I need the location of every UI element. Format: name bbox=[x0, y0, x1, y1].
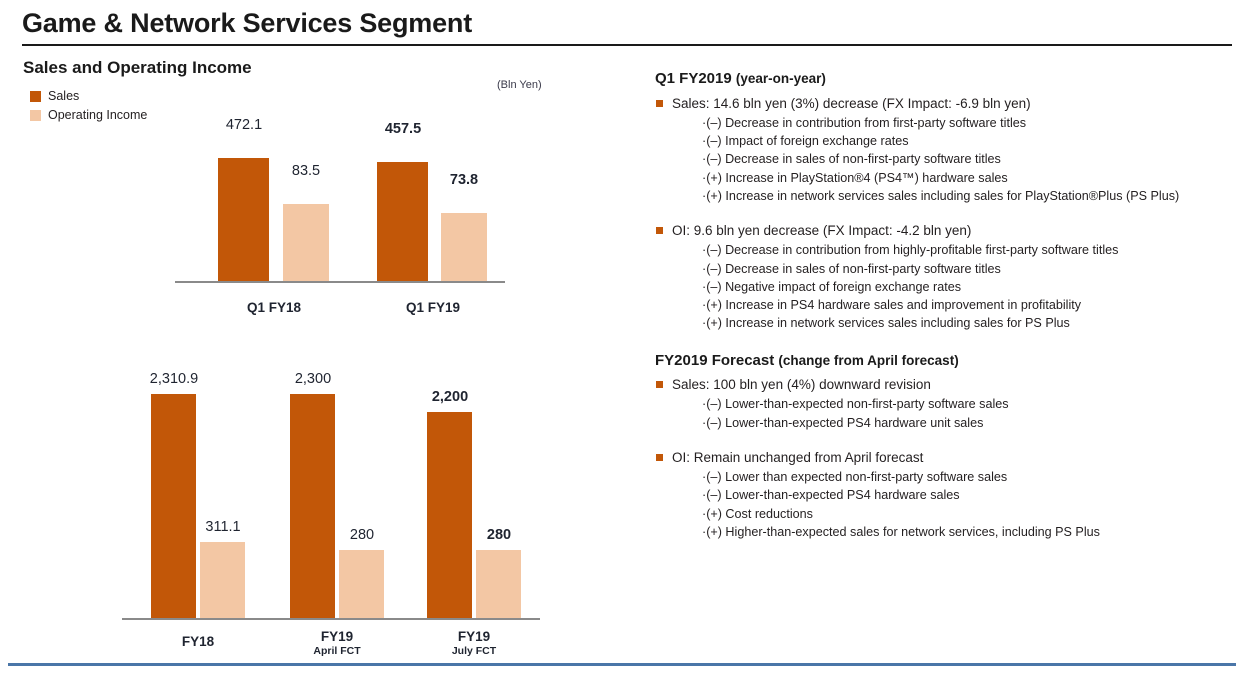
chart1-bar-oi-q1fy19 bbox=[441, 213, 487, 281]
chart2-bar-oi-fy18 bbox=[200, 542, 245, 618]
chart-q1-sales-operating-income: 472.1 83.5 Q1 FY18 457.5 73.8 Q1 FY19 bbox=[0, 118, 620, 318]
chart1-axis-line bbox=[175, 281, 505, 283]
chart2-category-sub-fy19-april: April FCT bbox=[276, 645, 398, 657]
commentary-bullet-q1-oi: OI: 9.6 bln yen decrease (FX Impact: -4.… bbox=[655, 221, 1240, 240]
chart2-value-sales-fy18: 2,310.9 bbox=[133, 372, 215, 387]
commentary-bullet-fy2019-oi: OI: Remain unchanged from April forecast bbox=[655, 448, 1240, 467]
commentary-sublist-fy2019-oi: ·(–) Lower than expected non-first-party… bbox=[655, 468, 1240, 541]
list-item: ·(+) Cost reductions bbox=[702, 505, 1240, 523]
legend-swatch-sales bbox=[30, 91, 41, 102]
legend-item-sales: Sales bbox=[30, 88, 147, 105]
commentary-heading-strong-fy2019: FY2019 Forecast bbox=[655, 352, 774, 369]
chart2-value-sales-fy19-july: 2,200 bbox=[409, 390, 491, 405]
commentary-bullet-q1-sales: Sales: 14.6 bln yen (3%) decrease (FX Im… bbox=[655, 94, 1240, 113]
commentary-sublist-q1-oi: ·(–) Decrease in contribution from highl… bbox=[655, 241, 1240, 332]
chart1-value-sales-q1fy18: 472.1 bbox=[203, 118, 285, 133]
commentary-bullet-fy2019-sales: Sales: 100 bln yen (4%) downward revisio… bbox=[655, 375, 1240, 394]
commentary-heading-fy2019-forecast: FY2019 Forecast (change from April forec… bbox=[655, 352, 1240, 371]
footer-divider bbox=[8, 663, 1236, 666]
list-item: ·(–) Negative impact of foreign exchange… bbox=[702, 278, 1240, 296]
chart1-value-sales-q1fy19: 457.5 bbox=[362, 122, 444, 137]
page-title: Game & Network Services Segment bbox=[22, 8, 1232, 39]
chart2-bar-oi-fy19-april bbox=[339, 550, 384, 618]
chart2-bar-sales-fy19-april bbox=[290, 394, 335, 618]
list-item: ·(+) Higher-than-expected sales for netw… bbox=[702, 523, 1240, 541]
chart2-category-label-fy19-april: FY19 April FCT bbox=[276, 629, 398, 657]
legend-label-sales: Sales bbox=[48, 90, 79, 103]
chart1-category-label-q1fy19: Q1 FY19 bbox=[372, 300, 494, 316]
chart2-value-oi-fy18: 311.1 bbox=[182, 520, 264, 535]
chart1-bar-sales-q1fy18 bbox=[218, 158, 269, 281]
commentary-heading-paren-fy2019: (change from April forecast) bbox=[778, 353, 958, 368]
chart2-category-main-fy19-july: FY19 bbox=[458, 629, 490, 644]
chart2-bar-sales-fy19-july bbox=[427, 412, 472, 618]
chart2-category-label-fy18: FY18 bbox=[137, 634, 259, 650]
chart2-value-sales-fy19-april: 2,300 bbox=[272, 372, 354, 387]
chart2-category-sub-fy19-july: July FCT bbox=[413, 645, 535, 657]
list-item: ·(–) Impact of foreign exchange rates bbox=[702, 132, 1240, 150]
list-item: ·(+) Increase in PlayStation®4 (PS4™) ha… bbox=[702, 169, 1240, 187]
chart1-category-label-q1fy18: Q1 FY18 bbox=[213, 300, 335, 316]
spacer bbox=[655, 205, 1240, 221]
list-item: ·(–) Decrease in sales of non-first-part… bbox=[702, 260, 1240, 278]
chart2-category-main-fy18: FY18 bbox=[182, 634, 214, 649]
chart2-axis-line bbox=[122, 618, 540, 620]
commentary-heading-q1-fy2019: Q1 FY2019 (year-on-year) bbox=[655, 70, 1240, 89]
commentary-block-fy2019-forecast: FY2019 Forecast (change from April forec… bbox=[655, 352, 1240, 542]
chart2-bar-oi-fy19-july bbox=[476, 550, 521, 618]
spacer bbox=[655, 333, 1240, 352]
list-item: ·(–) Decrease in contribution from highl… bbox=[702, 241, 1240, 259]
unit-label: (Bln Yen) bbox=[497, 79, 542, 91]
list-item: ·(–) Lower than expected non-first-party… bbox=[702, 468, 1240, 486]
list-item: ·(–) Lower-than-expected PS4 hardware un… bbox=[702, 414, 1240, 432]
commentary-panel: Q1 FY2019 (year-on-year) Sales: 14.6 bln… bbox=[655, 70, 1240, 541]
commentary-heading-strong-q1: Q1 FY2019 bbox=[655, 70, 732, 87]
list-item: ·(–) Lower-than-expected PS4 hardware sa… bbox=[702, 486, 1240, 504]
slide-root: Game & Network Services Segment Sales an… bbox=[0, 0, 1244, 674]
spacer bbox=[655, 432, 1240, 448]
title-divider bbox=[22, 44, 1232, 46]
title-block: Game & Network Services Segment bbox=[22, 8, 1232, 39]
list-item: ·(–) Decrease in sales of non-first-part… bbox=[702, 150, 1240, 168]
commentary-block-q1-fy2019: Q1 FY2019 (year-on-year) Sales: 14.6 bln… bbox=[655, 70, 1240, 333]
list-item: ·(–) Lower-than-expected non-first-party… bbox=[702, 395, 1240, 413]
list-item: ·(+) Increase in PS4 hardware sales and … bbox=[702, 296, 1240, 314]
chart2-value-oi-fy19-july: 280 bbox=[458, 528, 540, 543]
chart2-category-label-fy19-july: FY19 July FCT bbox=[413, 629, 535, 657]
chart2-value-oi-fy19-april: 280 bbox=[321, 528, 403, 543]
commentary-sublist-q1-sales: ·(–) Decrease in contribution from first… bbox=[655, 114, 1240, 205]
chart1-bar-oi-q1fy18 bbox=[283, 204, 329, 281]
chart1-value-oi-q1fy19: 73.8 bbox=[426, 173, 502, 188]
chart2-category-main-fy19-april: FY19 bbox=[321, 629, 353, 644]
chart1-bar-sales-q1fy19 bbox=[377, 162, 428, 281]
list-item: ·(+) Increase in network services sales … bbox=[702, 314, 1240, 332]
chart1-value-oi-q1fy18: 83.5 bbox=[268, 164, 344, 179]
commentary-heading-paren-q1: (year-on-year) bbox=[736, 71, 826, 86]
chart-fy-sales-operating-income: 2,310.9 311.1 FY18 2,300 280 FY19 April … bbox=[0, 372, 620, 650]
list-item: ·(+) Increase in network services sales … bbox=[702, 187, 1240, 205]
section-heading: Sales and Operating Income bbox=[22, 58, 632, 78]
chart2-bar-sales-fy18 bbox=[151, 394, 196, 618]
commentary-sublist-fy2019-sales: ·(–) Lower-than-expected non-first-party… bbox=[655, 395, 1240, 432]
list-item: ·(–) Decrease in contribution from first… bbox=[702, 114, 1240, 132]
